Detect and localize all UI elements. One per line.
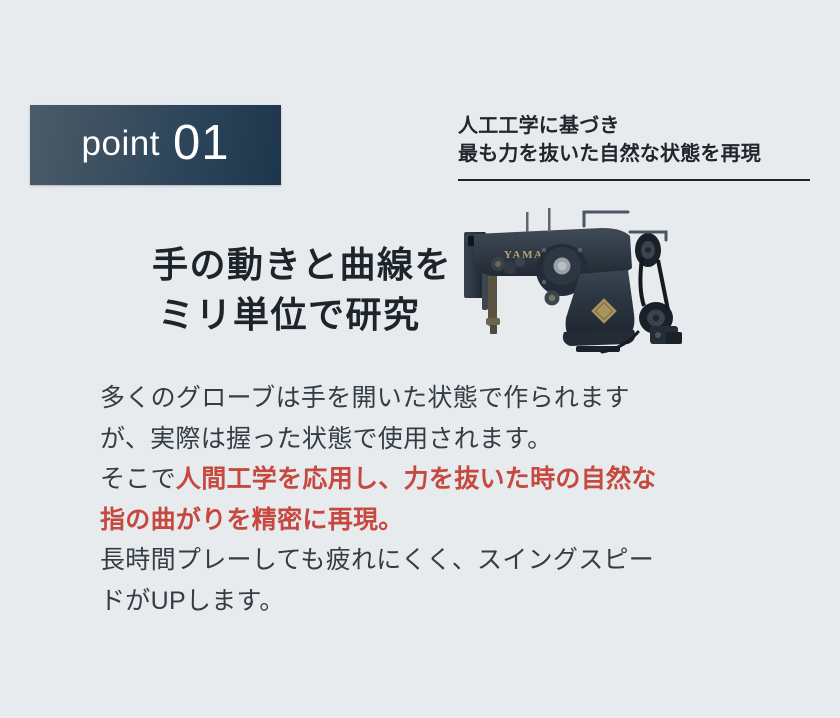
point-badge-number: 01	[173, 119, 230, 168]
page-title: 手の動きと曲線を ミリ単位で研究	[152, 240, 452, 341]
headline-line-2: ミリ単位で研究	[152, 290, 452, 340]
point-badge-word: point	[82, 126, 160, 161]
headline-line-1: 手の動きと曲線を	[152, 240, 452, 290]
point-badge: point 01	[30, 105, 281, 185]
body-line-5: 長時間プレーしても疲れにくく、スイングスピー	[100, 540, 720, 581]
body-line-3-plain: そこで	[100, 465, 176, 493]
body-copy: 多くのグローブは手を開いた状態で作られます が、実際は握った状態で使用されます。…	[100, 378, 720, 621]
point-section: point 01 人工工学に基づき 最も力を抜いた自然な状態を再現 手の動きと曲…	[0, 0, 840, 718]
body-line-1: 多くのグローブは手を開いた状態で作られます	[100, 378, 720, 419]
lede-block: 人工工学に基づき 最も力を抜いた自然な状態を再現	[458, 112, 814, 181]
sewing-machine-image: YAMATO	[452, 206, 686, 358]
body-line-6: ドがUPします。	[100, 581, 720, 622]
body-line-2: が、実際は握った状態で使用されます。	[100, 419, 720, 460]
body-line-4: 指の曲がりを精密に再現。	[100, 500, 720, 541]
lede-line-2: 最も力を抜いた自然な状態を再現	[458, 140, 814, 168]
lede-line-1: 人工工学に基づき	[458, 112, 814, 140]
body-line-3: そこで人間工学を応用し、力を抜いた時の自然な	[100, 459, 720, 500]
body-line-3-emphasis: 人間工学を応用し、力を抜いた時の自然な	[176, 465, 657, 493]
lede-divider	[458, 179, 810, 181]
